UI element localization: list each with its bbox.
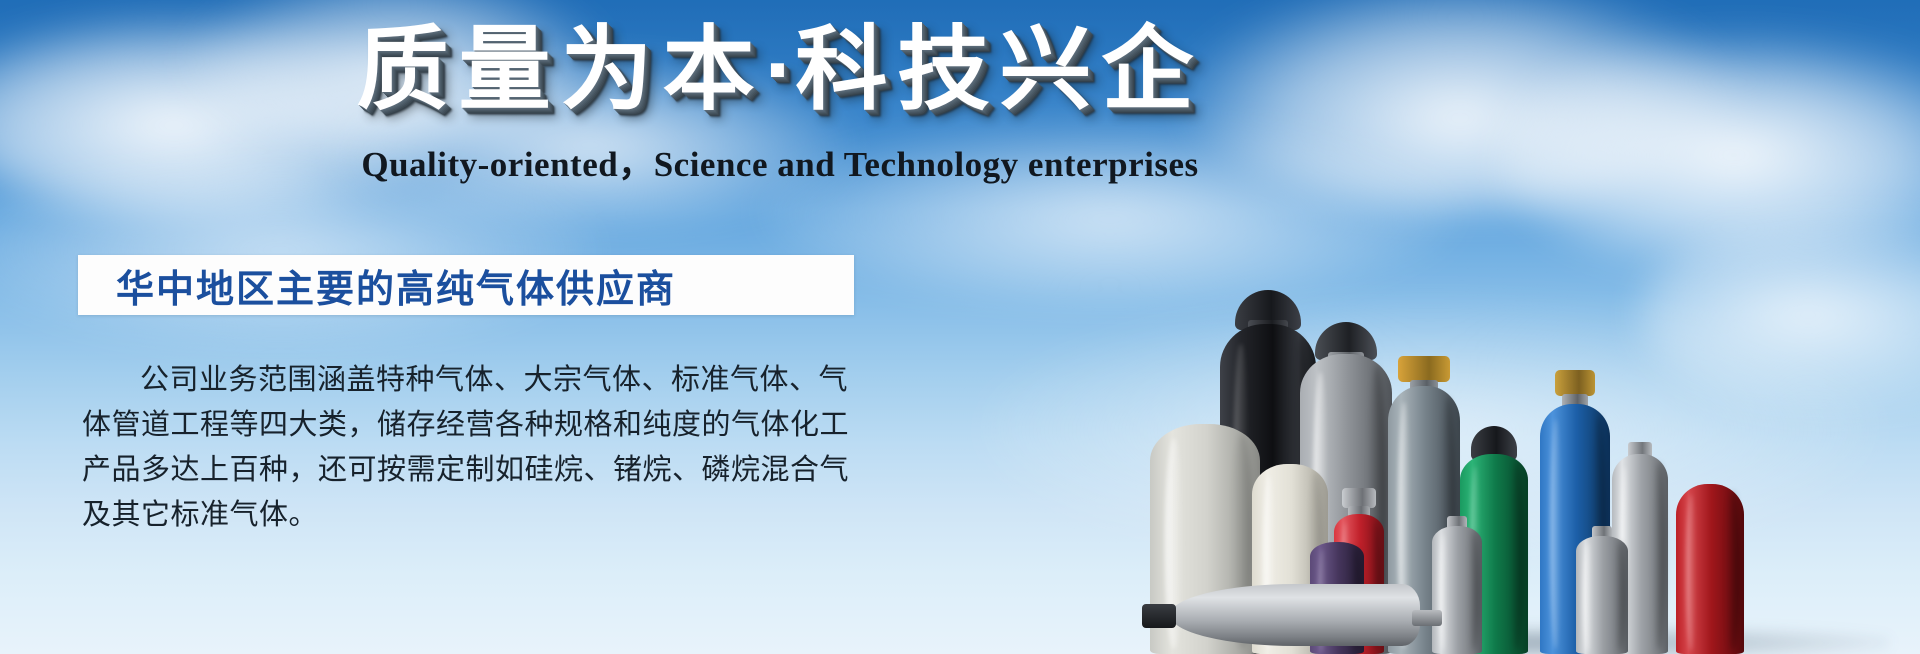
dark-red-cylinder [1676,484,1744,654]
cylinder-highlight [1439,534,1447,652]
banner-subtitle: Quality-oriented，Science and Technology … [0,136,1560,187]
aluminium-cylinder [1576,536,1628,654]
cylinder-shading [1726,491,1740,651]
horizontal-grey-cylinder [1170,584,1420,646]
aluminium-cylinder [1432,526,1482,654]
horizontal-cylinder-valve [1142,604,1176,628]
description-paragraph: 公司业务范围涵盖特种气体、大宗气体、标准气体、气体管道工程等四大类，储存经营各种… [82,358,872,538]
hero-banner: 质量为本·科技兴企 Quality-oriented，Science and T… [0,0,1920,654]
highlight-box-text: 华中地区主要的高纯气体供应商 [78,258,676,313]
headline-part-one: 质量为本 [357,19,765,121]
cylinder-valve [1555,370,1595,396]
cylinder-valve [1398,356,1450,382]
cylinder-shading [1615,541,1625,652]
cylinder-shading [1469,531,1479,651]
headline-part-two: 科技兴企 [795,19,1203,121]
cylinder-shading [1510,462,1524,650]
cylinder-highlight [1550,419,1561,649]
highlight-box: 华中地区主要的高纯气体供应商 [78,255,854,315]
cylinder-shading [1653,462,1664,650]
cylinder-valve [1342,488,1376,508]
gas-cylinder-group-image [1160,234,1920,654]
horizontal-cylinder-valve [1412,610,1442,626]
cylinder-highlight [1583,543,1591,652]
headline-container: 质量为本·科技兴企 [0,22,1560,120]
banner-description: 公司业务范围涵盖特种气体、大宗气体、标准气体、气体管道工程等四大类，储存经营各种… [82,358,872,538]
banner-headline: 质量为本·科技兴企 [0,22,1560,120]
headline-separator: · [765,19,796,121]
